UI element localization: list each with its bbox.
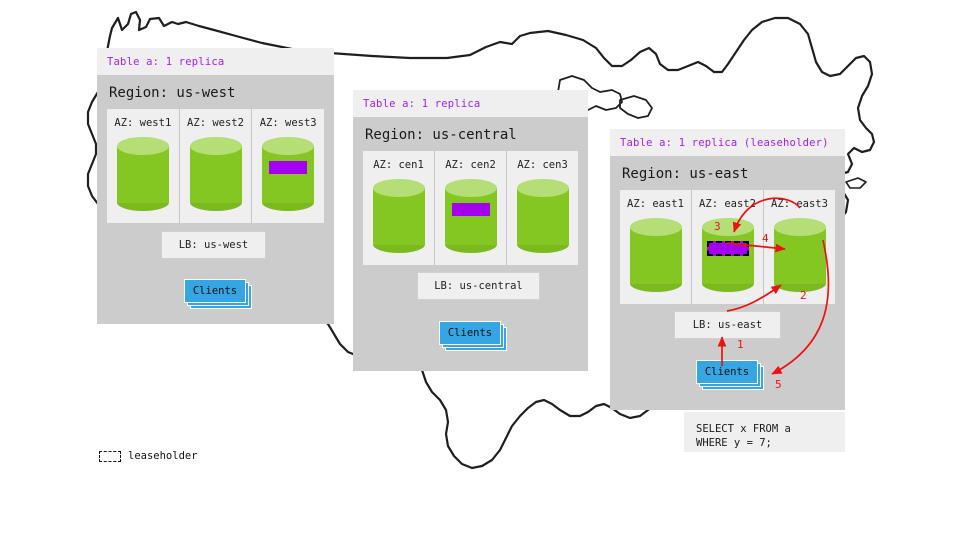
az-cell-cen1[interactable]: AZ: cen1 <box>363 151 435 265</box>
az-cell-east2[interactable]: AZ: east2 <box>692 190 764 304</box>
step-number-5: 5 <box>775 378 782 391</box>
legend-label: leaseholder <box>128 450 198 462</box>
cylinder-top <box>774 218 826 236</box>
az-row-us-west: AZ: west1 AZ: west2 AZ: west3 <box>107 109 324 223</box>
az-cell-west3[interactable]: AZ: west3 <box>252 109 324 223</box>
sql-query-box: SELECT x FROM a WHERE y = 7; <box>684 412 845 452</box>
cylinder-top <box>702 218 754 236</box>
panel-header-us-west: Table a: 1 replica <box>97 48 334 75</box>
node-cylinder-east1[interactable] <box>630 218 682 292</box>
region-title-us-west: Region: us-west <box>97 75 334 109</box>
az-label-west1: AZ: west1 <box>111 117 175 129</box>
clients-us-central[interactable]: Clients <box>439 321 501 345</box>
range-replica-west3 <box>269 161 307 174</box>
az-cell-cen3[interactable]: AZ: cen3 <box>507 151 578 265</box>
az-label-east1: AZ: east1 <box>624 198 687 210</box>
az-label-east2: AZ: east2 <box>696 198 759 210</box>
cylinder-top <box>117 137 169 155</box>
range-replica-cen2 <box>452 203 490 216</box>
cylinder-top <box>373 179 425 197</box>
step-number-1: 1 <box>737 338 744 351</box>
clients-us-east[interactable]: Clients <box>696 360 758 384</box>
clients-label[interactable]: Clients <box>696 360 758 384</box>
leaseholder-replica-east2 <box>707 241 749 256</box>
region-title-us-central: Region: us-central <box>353 117 588 151</box>
panel-header-us-east: Table a: 1 replica (leaseholder) <box>610 129 845 156</box>
step-number-3: 3 <box>714 220 721 233</box>
az-cell-west1[interactable]: AZ: west1 <box>107 109 180 223</box>
step-number-4: 4 <box>762 232 769 245</box>
region-panel-us-central: Table a: 1 replica Region: us-central AZ… <box>353 90 588 371</box>
panel-header-us-central: Table a: 1 replica <box>353 90 588 117</box>
load-balancer-us-east[interactable]: LB: us-east <box>674 311 781 339</box>
node-cylinder-east2[interactable] <box>702 218 754 292</box>
az-cell-east3[interactable]: AZ: east3 <box>764 190 835 304</box>
legend-leaseholder: leaseholder <box>99 450 198 462</box>
node-cylinder-cen2[interactable] <box>445 179 497 253</box>
cylinder-top <box>190 137 242 155</box>
node-cylinder-east3[interactable] <box>774 218 826 292</box>
node-cylinder-cen3[interactable] <box>517 179 569 253</box>
load-balancer-us-central[interactable]: LB: us-central <box>417 272 540 300</box>
node-cylinder-west1[interactable] <box>117 137 169 211</box>
clients-label[interactable]: Clients <box>184 279 246 303</box>
node-cylinder-cen1[interactable] <box>373 179 425 253</box>
step-number-2: 2 <box>800 289 807 302</box>
clients-label[interactable]: Clients <box>439 321 501 345</box>
node-cylinder-west2[interactable] <box>190 137 242 211</box>
load-balancer-us-west[interactable]: LB: us-west <box>161 231 266 259</box>
az-label-cen3: AZ: cen3 <box>511 159 574 171</box>
cylinder-top <box>262 137 314 155</box>
az-label-west3: AZ: west3 <box>256 117 320 129</box>
az-row-us-central: AZ: cen1 AZ: cen2 AZ: cen3 <box>363 151 578 265</box>
az-label-cen2: AZ: cen2 <box>439 159 502 171</box>
cylinder-top <box>517 179 569 197</box>
az-label-east3: AZ: east3 <box>768 198 831 210</box>
leaseholder-swatch-icon <box>99 451 121 462</box>
az-label-cen1: AZ: cen1 <box>367 159 430 171</box>
az-row-us-east: AZ: east1 AZ: east2 AZ: east3 <box>620 190 835 304</box>
cylinder-top <box>630 218 682 236</box>
az-label-west2: AZ: west2 <box>184 117 248 129</box>
region-panel-us-east: Table a: 1 replica (leaseholder) Region:… <box>610 129 845 410</box>
clients-us-west[interactable]: Clients <box>184 279 246 303</box>
az-cell-east1[interactable]: AZ: east1 <box>620 190 692 304</box>
az-cell-cen2[interactable]: AZ: cen2 <box>435 151 507 265</box>
az-cell-west2[interactable]: AZ: west2 <box>180 109 253 223</box>
region-title-us-east: Region: us-east <box>610 156 845 190</box>
diagram-canvas: Table a: 1 replica Region: us-west AZ: w… <box>0 0 960 540</box>
cylinder-top <box>445 179 497 197</box>
node-cylinder-west3[interactable] <box>262 137 314 211</box>
region-panel-us-west: Table a: 1 replica Region: us-west AZ: w… <box>97 48 334 324</box>
